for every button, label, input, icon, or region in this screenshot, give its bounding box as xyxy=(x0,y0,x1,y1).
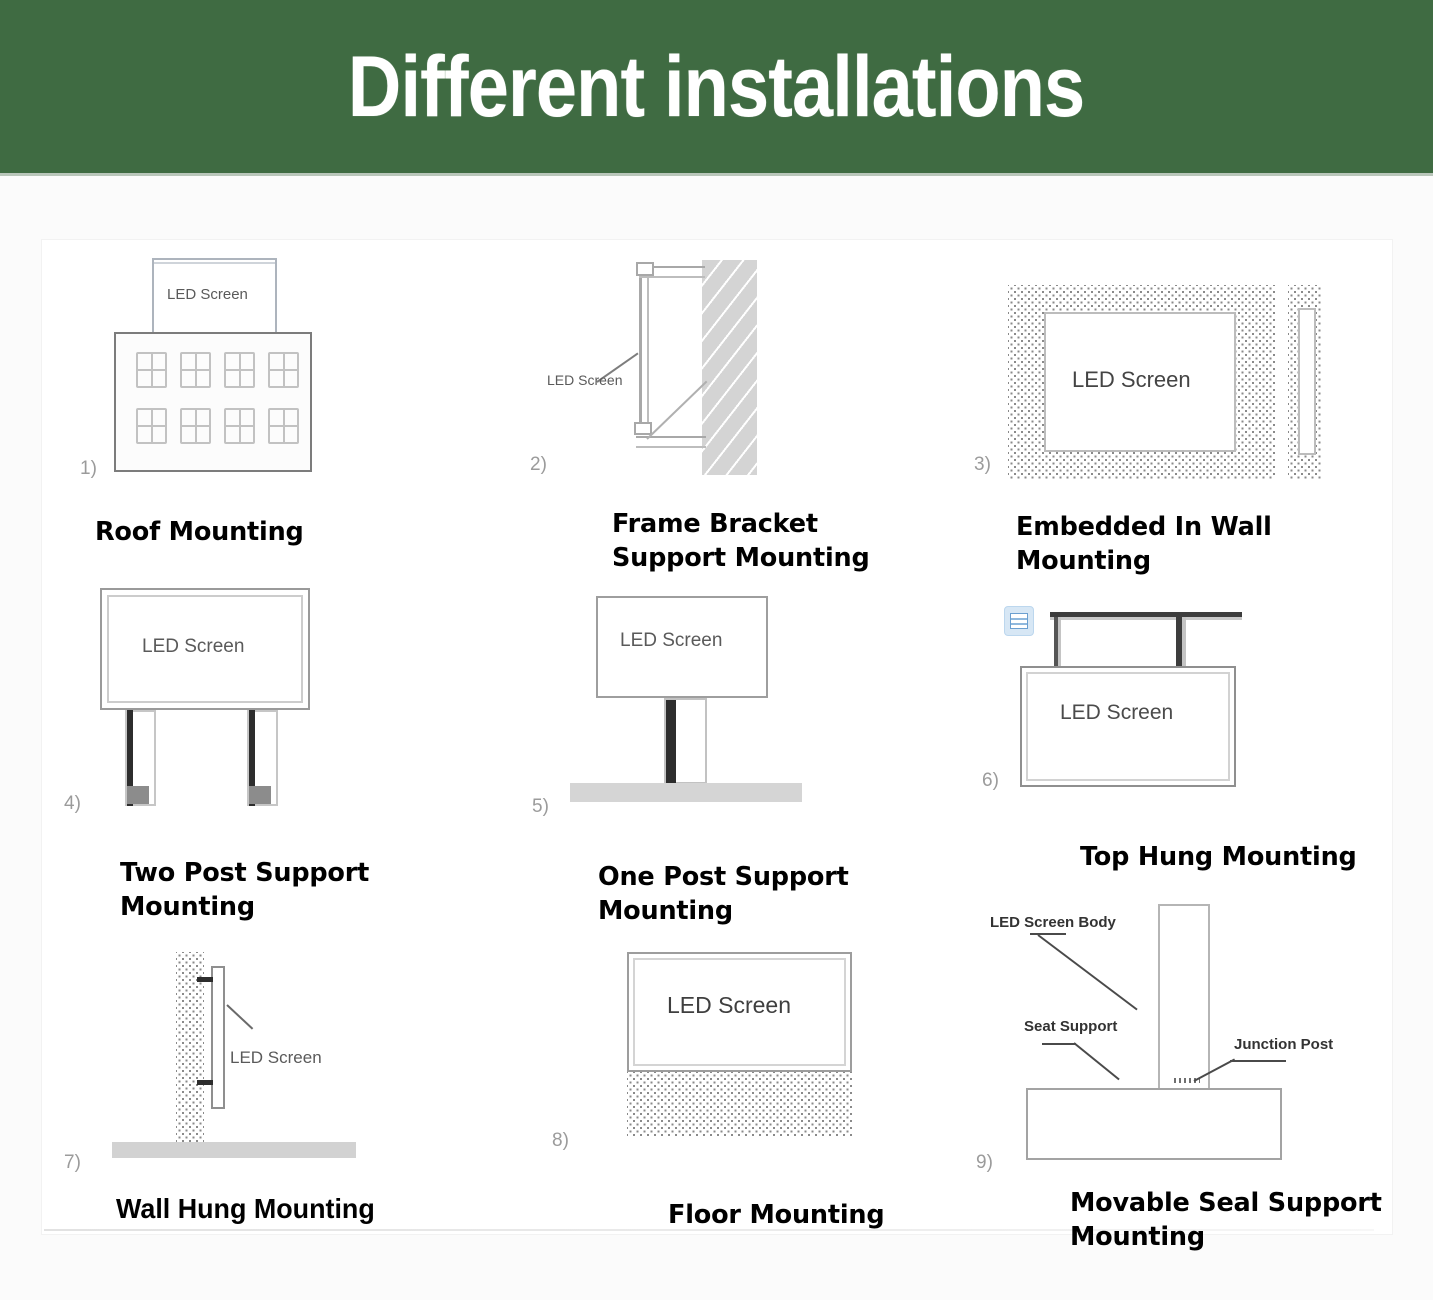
movable-seal-support-figure: LED Screen Body Seat Support Junction Po… xyxy=(962,890,1422,1190)
figure-number: 5) xyxy=(532,796,549,818)
figure-number: 1) xyxy=(80,458,97,480)
floor-base-stipple xyxy=(627,1072,852,1136)
cell-one-post-support-mounting: LED Screen 5) One Post Support Mounting xyxy=(502,578,952,928)
support-post-left-base xyxy=(127,786,149,804)
one-post-screen-label: LED Screen xyxy=(620,630,722,652)
frame-bracket-figure: LED Screen 2) xyxy=(502,240,952,495)
screen-body-column xyxy=(1158,904,1210,1090)
figure-number: 3) xyxy=(974,454,991,476)
leader-screen-body xyxy=(1037,934,1137,1010)
underline-screen-body xyxy=(1030,933,1066,935)
bracket-arm-bottom-lower xyxy=(636,446,706,448)
one-post-support-shadow xyxy=(666,700,676,784)
figure-number: 9) xyxy=(976,1152,993,1174)
caption-two-post-support-mounting: Two Post Support Mounting xyxy=(120,856,369,924)
cell-two-post-support-mounting: LED Screen 4) Two Post Support Mounting xyxy=(42,578,492,928)
bracket-clamp-top xyxy=(636,262,654,276)
wall-bracket-top xyxy=(197,977,213,982)
cell-wall-hung-mounting: LED Screen 7) Wall Hung Mounting xyxy=(42,930,492,1250)
ground-slab xyxy=(570,783,802,802)
annotation-screen-body: LED Screen Body xyxy=(990,914,1116,931)
wall-hatched xyxy=(702,260,757,475)
building-window xyxy=(268,408,299,444)
underline-seat-support xyxy=(1042,1043,1076,1045)
figure-number: 6) xyxy=(982,770,999,792)
figure-number: 8) xyxy=(552,1130,569,1152)
led-screen-leader-line xyxy=(226,1004,253,1029)
support-post-right-base xyxy=(249,786,271,804)
embedded-screen-label: LED Screen xyxy=(1072,367,1191,393)
roof-billboard-label: LED Screen xyxy=(167,286,248,303)
underline-junction-post xyxy=(1230,1060,1286,1062)
floor-mounting-figure: LED Screen 8) xyxy=(502,930,952,1190)
annotation-seat-support: Seat Support xyxy=(1024,1018,1117,1035)
bracket-diagonal-brace xyxy=(646,381,707,440)
cell-embedded-in-wall-mounting: LED Screen 3) Embedded In Wall Mounting xyxy=(962,240,1402,580)
embedded-screen-side xyxy=(1298,308,1316,455)
building-window xyxy=(136,408,167,444)
screen-panel-outer xyxy=(639,274,642,422)
caption-floor-mounting: Floor Mounting xyxy=(668,1198,884,1232)
floor-screen-label: LED Screen xyxy=(667,992,791,1019)
building-window xyxy=(180,352,211,388)
top-hung-screen-label: LED Screen xyxy=(1060,701,1173,725)
cell-movable-seal-support-mounting: LED Screen Body Seat Support Junction Po… xyxy=(962,890,1422,1260)
broken-image-icon xyxy=(1004,606,1034,636)
seat-support-base xyxy=(1026,1088,1282,1160)
led-screen-label: LED Screen xyxy=(547,372,622,388)
floor-slab xyxy=(112,1142,356,1158)
caption-roof-mounting: Roof Mounting xyxy=(95,515,304,549)
embedded-in-wall-figure: LED Screen 3) xyxy=(962,240,1402,495)
header-banner: Different installations xyxy=(0,0,1433,173)
wall-hung-screen-panel xyxy=(211,966,225,1109)
caption-wall-hung-mounting: Wall Hung Mounting xyxy=(116,1192,375,1226)
building-window xyxy=(268,352,299,388)
caption-frame-bracket-support-mounting: Frame Bracket Support Mounting xyxy=(612,507,870,575)
page-title: Different installations xyxy=(348,44,1084,130)
caption-top-hung-mounting: Top Hung Mounting xyxy=(1080,840,1357,874)
caption-embedded-in-wall-mounting: Embedded In Wall Mounting xyxy=(1016,510,1272,578)
top-beam-lower-edge xyxy=(1050,617,1242,620)
figure-number: 7) xyxy=(64,1152,81,1174)
wall-bracket-bottom xyxy=(197,1080,213,1085)
building-window xyxy=(224,408,255,444)
figure-number: 4) xyxy=(64,793,81,815)
roof-mounting-figure: LED Screen 1) xyxy=(42,240,492,500)
bracket-arm-top-lower xyxy=(639,276,705,278)
cell-top-hung-mounting: LED Screen 6) Top Hung Mounting xyxy=(962,578,1402,928)
cell-frame-bracket-support-mounting: LED Screen 2) Frame Bracket Support Moun… xyxy=(502,240,952,580)
caption-movable-seal-support-mounting: Movable Seal Support Mounting xyxy=(1070,1186,1382,1254)
caption-one-post-support-mounting: One Post Support Mounting xyxy=(598,860,849,928)
building-window xyxy=(180,408,211,444)
roof-billboard-top-edge xyxy=(154,262,275,264)
bracket-clamp-bottom xyxy=(634,422,652,435)
installations-grid: LED Screen 1) Roof Mounting xyxy=(42,240,1392,1260)
one-post-screen-top-highlight xyxy=(602,602,762,604)
hanger-right-edge xyxy=(1182,617,1186,667)
building-window xyxy=(224,352,255,388)
cell-roof-mounting: LED Screen 1) Roof Mounting xyxy=(42,240,492,560)
wall-hung-screen-label: LED Screen xyxy=(230,1048,322,1068)
wall-hung-figure: LED Screen 7) xyxy=(42,930,492,1190)
screen-panel-inner xyxy=(647,274,649,422)
two-post-screen-label: LED Screen xyxy=(142,636,244,658)
annotation-junction-post: Junction Post xyxy=(1234,1036,1333,1053)
figure-number: 2) xyxy=(530,454,547,476)
top-hung-screen-inner xyxy=(1026,672,1230,781)
hanger-left-edge xyxy=(1058,617,1061,667)
leader-seat-support xyxy=(1073,1042,1119,1080)
two-post-support-figure: LED Screen 4) xyxy=(42,578,492,838)
one-post-support-figure: LED Screen 5) xyxy=(502,578,952,843)
building-window xyxy=(136,352,167,388)
cell-floor-mounting: LED Screen 8) Floor Mounting xyxy=(502,930,952,1250)
top-hung-figure: LED Screen 6) xyxy=(962,578,1402,848)
